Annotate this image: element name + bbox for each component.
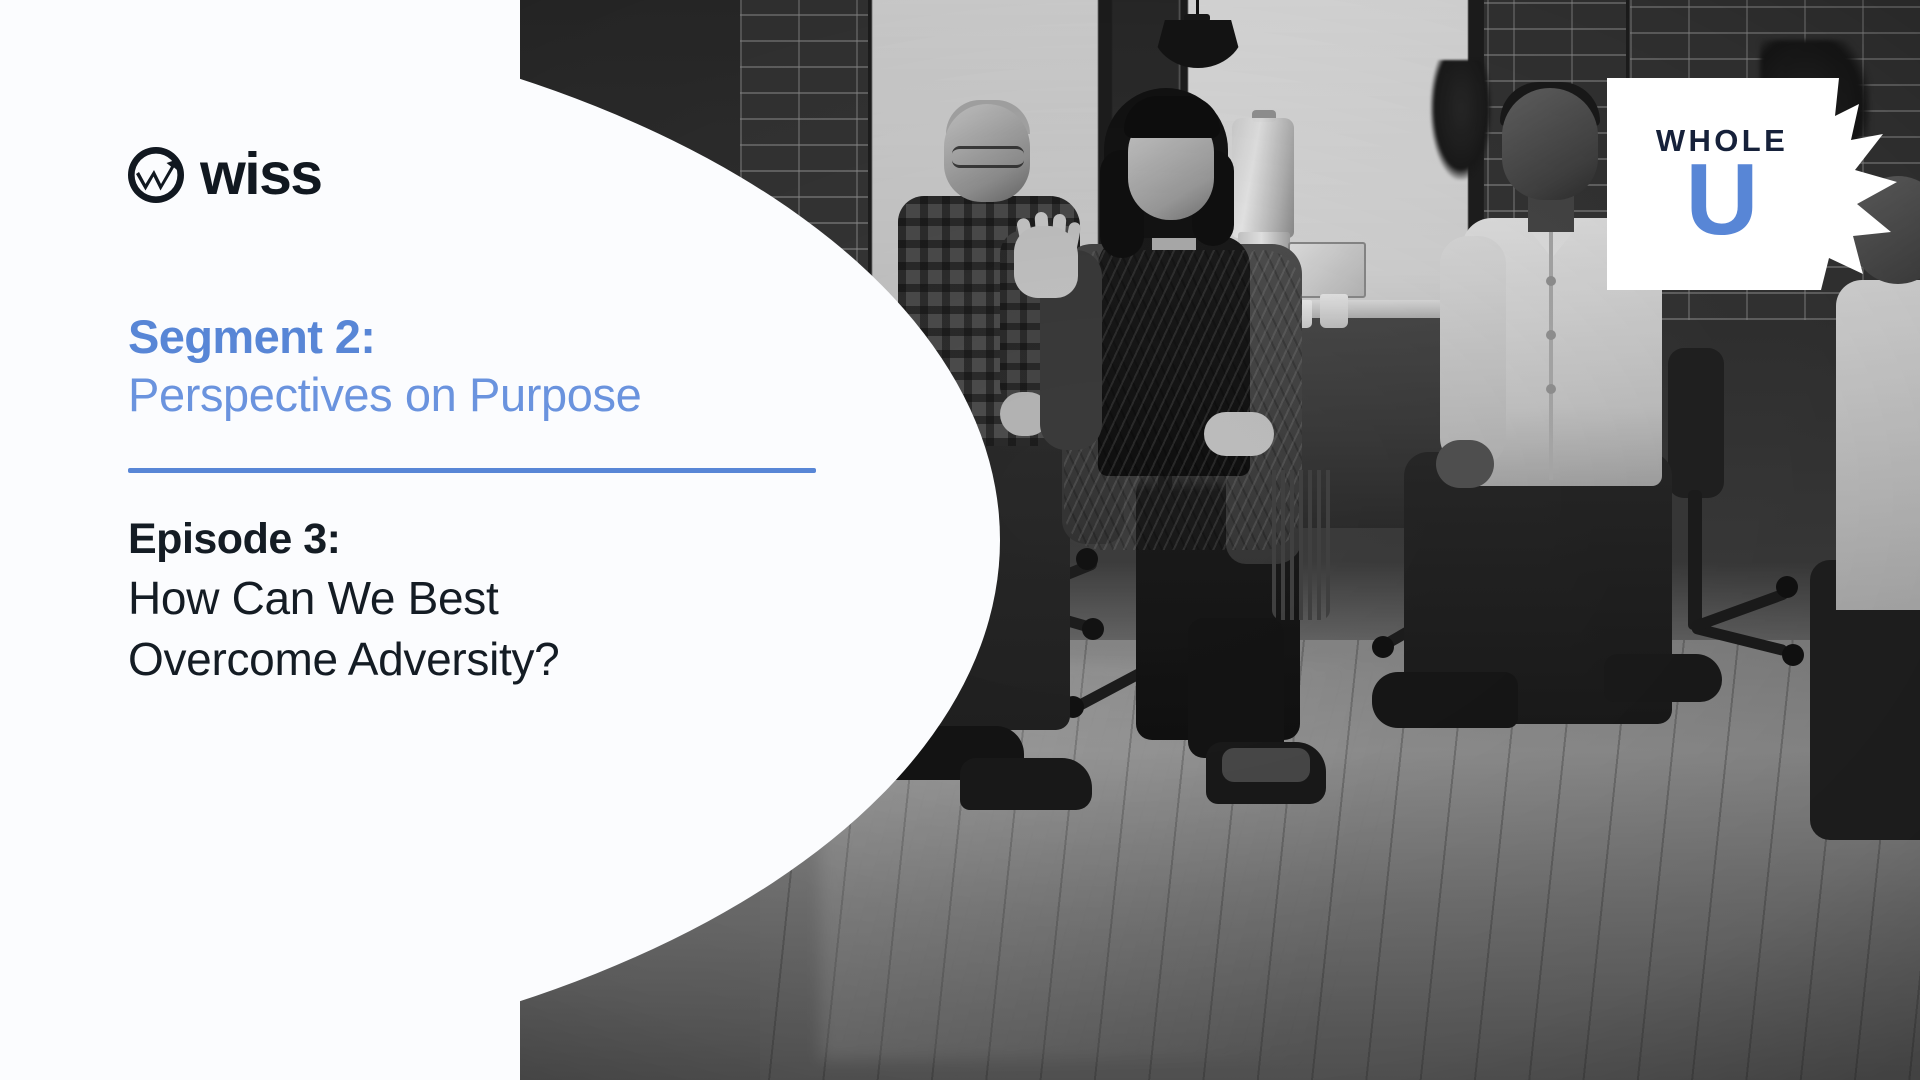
- episode-copy-block: Segment 2: Perspectives on Purpose Episo…: [128, 312, 888, 689]
- wiss-wordmark: wiss: [200, 146, 386, 205]
- episode-label: Episode 3:: [128, 516, 888, 562]
- episode-title-line2: Overcome Adversity?: [128, 630, 888, 689]
- episode-title-line1: How Can We Best: [128, 569, 888, 628]
- segment-label: Segment 2:: [128, 312, 888, 363]
- slide-canvas: wiss Segment 2: Perspectives on Purpose …: [0, 0, 1920, 1080]
- wiss-logo[interactable]: wiss: [126, 145, 386, 205]
- badge-u-text: U: [1686, 158, 1759, 243]
- svg-text:wiss: wiss: [200, 146, 321, 205]
- divider-rule: [128, 468, 816, 473]
- whole-u-badge: WHOLE U: [1607, 78, 1907, 290]
- segment-title: Perspectives on Purpose: [128, 369, 888, 422]
- wiss-circle-mark: [126, 145, 186, 205]
